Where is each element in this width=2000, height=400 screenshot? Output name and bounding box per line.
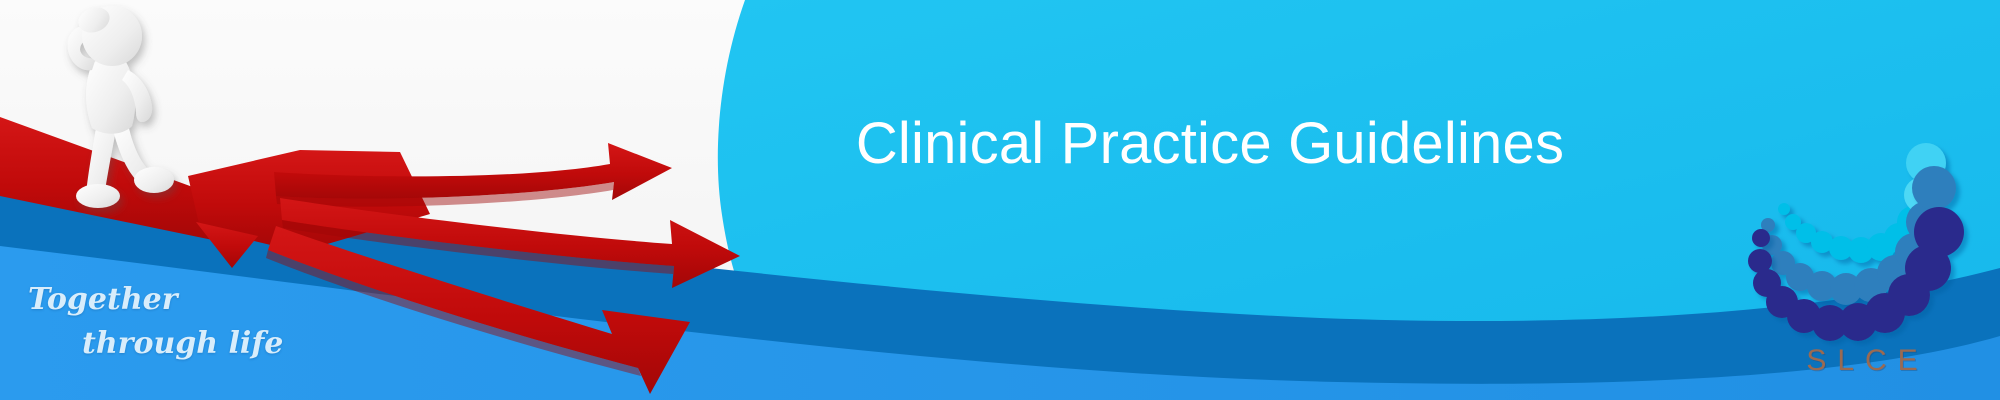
page-banner: Clinical Practice Guidelines Together th…	[0, 0, 2000, 400]
tagline: Together through life	[24, 278, 324, 365]
page-title: Clinical Practice Guidelines	[830, 112, 1590, 176]
slce-logo-text: SLCE	[1762, 344, 1962, 378]
tagline-line-1: Together	[24, 278, 324, 322]
tagline-line-2: through life	[24, 322, 324, 366]
